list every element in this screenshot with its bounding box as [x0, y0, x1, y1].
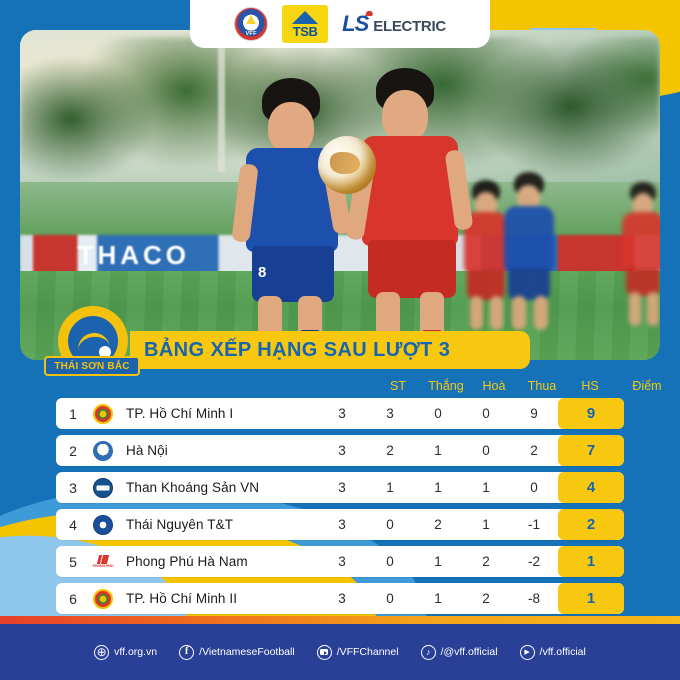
vff-logo-icon: VFF [234, 7, 268, 41]
youtube-icon [317, 645, 332, 660]
standings-table: ST Thắng Hoà Thua HS Điểm 1TP. Hồ Chí Mi… [0, 374, 680, 620]
footer-link[interactable]: /@vff.official [421, 645, 498, 660]
cell-hoa: 1 [414, 480, 462, 495]
thai-son-bac-banner: THÁI SƠN BẮC [44, 356, 140, 376]
cell-hoa: 1 [414, 554, 462, 569]
cell-thang: 0 [366, 554, 414, 569]
table-row-wrapper: 6TP. Hồ Chí Minh II3012-81 [0, 583, 680, 614]
team-crest-icon [90, 403, 116, 425]
cell-st: 3 [318, 554, 366, 569]
ls-accent-mark [365, 11, 374, 16]
cell-st: 3 [318, 443, 366, 458]
team-name: TP. Hồ Chí Minh II [116, 591, 318, 606]
row-rank: 1 [56, 406, 90, 422]
tiktok-icon [421, 645, 436, 660]
table-row-wrapper: 4Thái Nguyên T&T3021-12 [0, 509, 680, 540]
team-name: Hà Nội [116, 443, 318, 458]
table-row[interactable]: 4Thái Nguyên T&T3021-12 [56, 509, 624, 540]
team-name: Than Khoáng Sản VN [116, 480, 318, 495]
table-row-wrapper: 5PHONG PHUPhong Phú Hà Nam3012-21 [0, 546, 680, 577]
cell-st: 3 [318, 480, 366, 495]
column-header-diem: Điểm [614, 379, 680, 393]
cell-st: 3 [318, 591, 366, 606]
table-row[interactable]: 2Hà Nội321027 [56, 435, 624, 466]
cell-thang: 1 [366, 480, 414, 495]
team-crest-icon [90, 477, 116, 499]
team-crest-icon [90, 588, 116, 610]
cell-hs: -1 [510, 517, 558, 532]
row-rank: 4 [56, 517, 90, 533]
cell-diem: 4 [558, 472, 624, 503]
sponsor-logo-bar: VFF TSB LS ELECTRIC [190, 0, 490, 48]
team-name: Phong Phú Hà Nam [116, 554, 318, 569]
cell-thua: 2 [462, 591, 510, 606]
footer-link-label: /VFFChannel [337, 646, 399, 658]
table-row[interactable]: 1TP. Hồ Chí Minh I330099 [56, 398, 624, 429]
footer-link[interactable]: /VFFChannel [317, 645, 399, 660]
column-header-thang: Thắng [422, 379, 470, 393]
footer-link-label: vff.org.vn [114, 646, 157, 658]
cell-thua: 0 [462, 443, 510, 458]
team-crest-icon: PHONG PHU [90, 551, 116, 573]
cell-diem: 7 [558, 435, 624, 466]
cell-diem: 1 [558, 583, 624, 614]
cell-thang: 0 [366, 517, 414, 532]
column-header-hs: HS [566, 379, 614, 393]
team-crest-icon [90, 514, 116, 536]
table-row[interactable]: 6TP. Hồ Chí Minh II3012-81 [56, 583, 624, 614]
team-crest-icon [90, 440, 116, 462]
page-title: BẢNG XẾP HẠNG SAU LƯỢT 3 [144, 339, 450, 362]
cell-diem: 9 [558, 398, 624, 429]
row-rank: 5 [56, 554, 90, 570]
table-body: 1TP. Hồ Chí Minh I3300992Hà Nội3210273Th… [0, 398, 680, 614]
globe-icon [94, 645, 109, 660]
cell-diem: 1 [558, 546, 624, 577]
cell-hs: -8 [510, 591, 558, 606]
tsb-logo-icon: TSB [282, 5, 328, 43]
row-rank: 2 [56, 443, 90, 459]
cell-thang: 0 [366, 591, 414, 606]
footer-social-bar: vff.org.vn/VietnameseFootball/VFFChannel… [0, 624, 680, 680]
team-name: Thái Nguyên T&T [116, 517, 318, 532]
photo-player-red [350, 68, 490, 354]
table-row[interactable]: 3Than Khoáng Sản VN311104 [56, 472, 624, 503]
cell-st: 3 [318, 406, 366, 421]
cell-st: 3 [318, 517, 366, 532]
cell-hoa: 0 [414, 406, 462, 421]
photo-player-background-2 [490, 172, 568, 330]
thai-son-bac-logo: THÁI SƠN BẮC [44, 306, 140, 378]
cell-thua: 1 [462, 517, 510, 532]
column-header-st: ST [374, 379, 422, 393]
table-row[interactable]: 5PHONG PHUPhong Phú Hà Nam3012-21 [56, 546, 624, 577]
cell-hs: -2 [510, 554, 558, 569]
footer-link[interactable]: /vff.official [520, 645, 586, 660]
column-header-hoa: Hoà [470, 379, 518, 393]
cell-hs: 9 [510, 406, 558, 421]
photo-light-pole [218, 30, 225, 172]
footer-link-label: /VietnameseFootball [199, 646, 295, 658]
footer-link-label: /vff.official [540, 646, 586, 658]
cell-thang: 3 [366, 406, 414, 421]
footer-link[interactable]: /VietnameseFootball [179, 645, 295, 660]
table-row-wrapper: 1TP. Hồ Chí Minh I330099 [0, 398, 680, 429]
cell-thua: 1 [462, 480, 510, 495]
cell-hoa: 2 [414, 517, 462, 532]
standings-poster: THACO [0, 0, 680, 680]
footer-link[interactable]: vff.org.vn [94, 645, 157, 660]
play-icon [520, 645, 535, 660]
cell-thua: 0 [462, 406, 510, 421]
row-rank: 6 [56, 591, 90, 607]
table-row-wrapper: 2Hà Nội321027 [0, 435, 680, 466]
cell-thang: 2 [366, 443, 414, 458]
photo-player-number: 8 [258, 264, 266, 281]
cell-hoa: 1 [414, 443, 462, 458]
team-name: TP. Hồ Chí Minh I [116, 406, 318, 421]
cell-thua: 2 [462, 554, 510, 569]
cell-hoa: 1 [414, 591, 462, 606]
footer-link-label: /@vff.official [441, 646, 498, 658]
cell-hs: 2 [510, 443, 558, 458]
facebook-icon [179, 645, 194, 660]
tsb-mountain-icon [292, 11, 318, 24]
cell-diem: 2 [558, 509, 624, 540]
photo-football [318, 136, 376, 194]
photo-advert-text: THACO [78, 240, 190, 270]
photo-player-background-3 [612, 182, 660, 328]
table-row-wrapper: 3Than Khoáng Sản VN311104 [0, 472, 680, 503]
column-header-thua: Thua [518, 379, 566, 393]
ls-electric-logo-icon: LS ELECTRIC [342, 11, 446, 37]
standings-title-banner: BẢNG XẾP HẠNG SAU LƯỢT 3 [130, 331, 530, 369]
row-rank: 3 [56, 480, 90, 496]
cell-hs: 0 [510, 480, 558, 495]
